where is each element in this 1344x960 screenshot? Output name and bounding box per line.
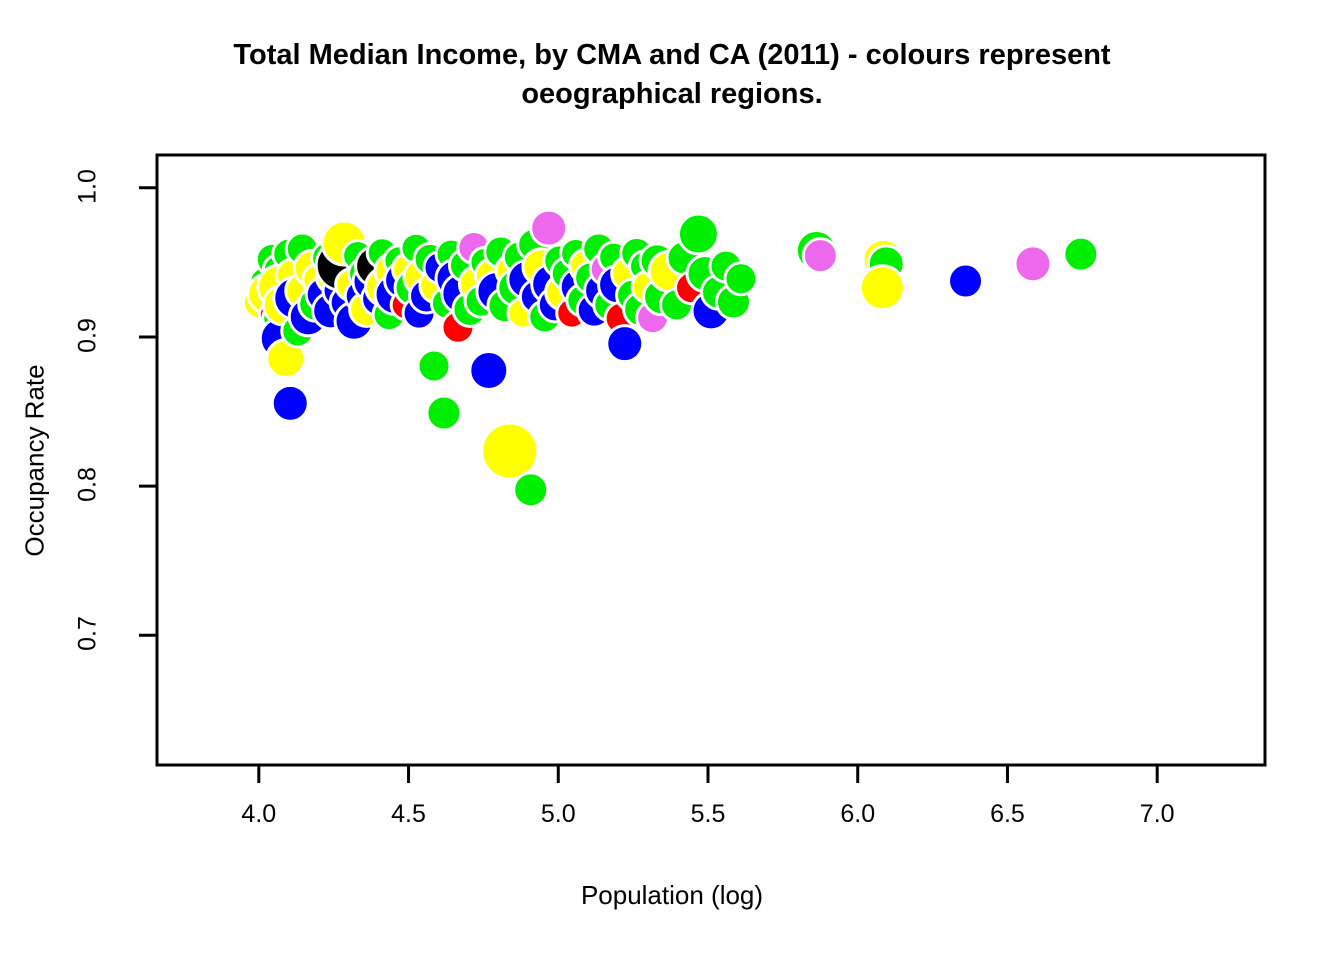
x-tick-label: 6.5 — [967, 800, 1047, 829]
scatter-point — [418, 350, 450, 382]
y-tick-marks — [139, 188, 157, 635]
scatter-point — [860, 266, 904, 310]
scatter-point — [949, 264, 983, 298]
x-tick-label: 5.0 — [518, 800, 598, 829]
scatter-point — [514, 473, 548, 507]
scatter-point — [725, 263, 757, 295]
scatter-point — [427, 396, 461, 430]
x-tick-label: 6.0 — [818, 800, 898, 829]
x-tick-label: 4.5 — [369, 800, 449, 829]
scatter-plot-figure: Total Median Income, by CMA and CA (2011… — [0, 0, 1344, 960]
x-tick-label: 7.0 — [1117, 800, 1197, 829]
x-tick-label: 4.0 — [219, 800, 299, 829]
y-tick-label: 0.7 — [74, 594, 103, 674]
scatter-point — [482, 423, 538, 479]
y-tick-label: 0.9 — [74, 295, 103, 375]
scatter-point — [531, 210, 567, 246]
data-points-group — [243, 210, 1098, 507]
scatter-point — [678, 214, 718, 254]
scatter-point — [1015, 246, 1051, 282]
scatter-point — [803, 239, 837, 273]
scatter-point — [470, 352, 508, 390]
x-tick-label: 5.5 — [668, 800, 748, 829]
scatter-point — [607, 326, 643, 362]
x-tick-marks — [259, 765, 1157, 783]
scatter-point — [1064, 237, 1098, 271]
y-tick-label: 0.8 — [74, 445, 103, 525]
scatter-point — [272, 385, 308, 421]
y-tick-label: 1.0 — [74, 146, 103, 226]
